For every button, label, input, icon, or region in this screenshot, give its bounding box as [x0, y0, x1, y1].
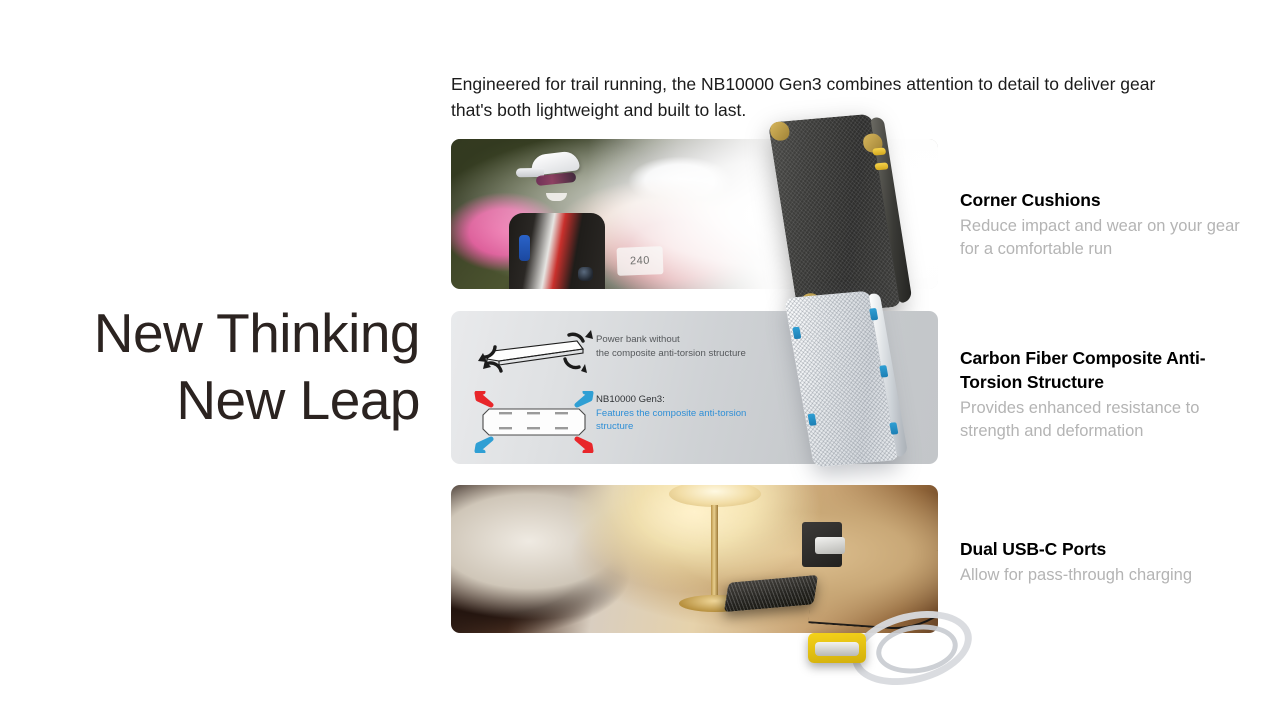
runner-sport-watch [578, 267, 593, 281]
intro-paragraph: Engineered for trail running, the NB1000… [451, 72, 1181, 124]
usb-c-port-indicator-2 [875, 162, 889, 170]
lamp-stem [711, 505, 718, 600]
race-bib-number: 240 [617, 246, 664, 276]
diagram-label-gen3-name: NB10000 Gen3: [596, 393, 811, 407]
yellow-headlamp [808, 633, 866, 663]
page-title: New Thinking New Leap [20, 300, 420, 434]
feature-description: Allow for pass-through charging [960, 564, 1250, 587]
diagram-label-without-structure: Power bank without the composite anti-to… [596, 333, 811, 360]
feature-media-panel: Power bank without the composite anti-to… [451, 311, 938, 464]
feature-media-panel: 240 [451, 139, 938, 289]
lamp-shade [669, 485, 761, 507]
diagram-label-gen3: NB10000 Gen3: Features the composite ant… [596, 393, 811, 434]
diagram-label-gen3-highlight: Features the composite anti-torsion stru… [596, 407, 811, 434]
feature-title: Carbon Fiber Composite Anti-Torsion Stru… [960, 347, 1250, 395]
usb-c-port-indicator-1 [872, 148, 886, 156]
reinforced-power-bank-illustration [469, 391, 599, 453]
feature-media-panel [451, 485, 938, 633]
feature-description: Reduce impact and wear on your gear for … [960, 215, 1250, 262]
feature-title: Corner Cushions [960, 189, 1250, 213]
feature-caption: Carbon Fiber Composite Anti-Torsion Stru… [960, 347, 1250, 443]
feature-title: Dual USB-C Ports [960, 538, 1250, 562]
black-power-bank-on-nightstand [724, 575, 818, 612]
feature-description: Provides enhanced resistance to strength… [960, 397, 1250, 444]
panel-clip [451, 485, 938, 633]
feature-caption: Corner Cushions Reduce impact and wear o… [960, 189, 1250, 262]
twisted-power-bank-illustration [469, 325, 599, 381]
product-feature-slide: New Thinking New Leap Engineered for tra… [0, 0, 1280, 720]
runner-water-bottle [519, 235, 530, 261]
runner-smile [546, 193, 567, 201]
feature-caption: Dual USB-C Ports Allow for pass-through … [960, 538, 1250, 587]
